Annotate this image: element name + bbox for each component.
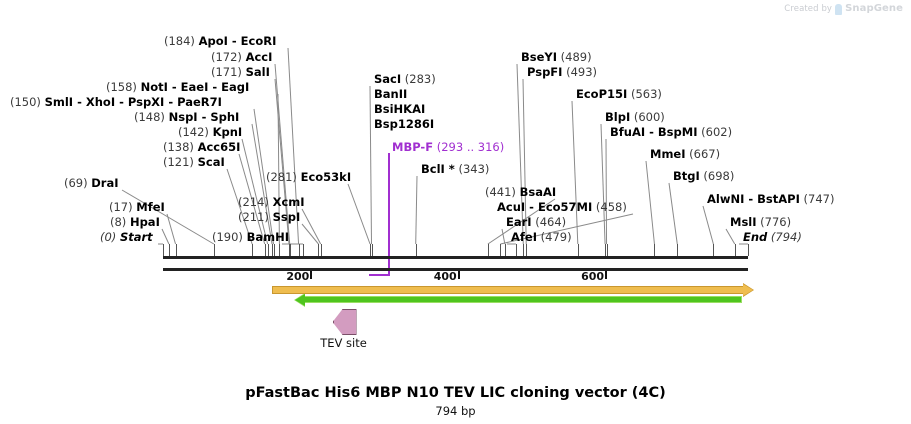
enzyme-position-mbp-f: (293 .. 316) xyxy=(433,140,504,154)
enzyme-label-draI[interactable]: (69) DraI xyxy=(64,177,119,189)
enzyme-position-ecoP15I: (563) xyxy=(627,87,662,101)
enzyme-name-pspFI: PspFI xyxy=(527,65,562,79)
enzyme-label-bsaAI[interactable]: (441) BsaAI xyxy=(485,186,556,198)
map-title: pFastBac His6 MBP N10 TEV LIC cloning ve… xyxy=(0,385,911,401)
enzyme-name-bsp1286I: Bsp1286I xyxy=(374,117,434,131)
enzyme-position-sacI: (283) xyxy=(401,72,436,86)
cut-site-tick-nspI-sphI xyxy=(272,244,273,256)
snapgene-logo-icon xyxy=(835,4,842,15)
cut-site-tick-acuI-eco57MI xyxy=(500,244,501,256)
enzyme-label-bsiHKAI[interactable]: BsiHKAI xyxy=(374,103,425,115)
enzyme-name-acc65I: Acc65I xyxy=(198,140,241,154)
enzyme-name-ecoP15I: EcoP15I xyxy=(576,87,627,101)
enzyme-position-salI: (171) xyxy=(211,65,246,79)
enzyme-position-xcmI: (214) xyxy=(238,195,273,209)
enzyme-position-scaI: (121) xyxy=(163,155,198,169)
enzyme-name-acuI-eco57MI: AcuI - Eco57MI xyxy=(497,200,592,214)
cut-site-tick-start xyxy=(163,244,164,256)
enzyme-name-alwNI-bstAPI: AlwNI - BstAPI xyxy=(707,192,800,206)
enzyme-label-bsp1286I[interactable]: Bsp1286I xyxy=(374,118,434,130)
enzyme-position-kpnI: (142) xyxy=(178,125,213,139)
enzyme-name-btgI: BtgI xyxy=(673,169,700,183)
enzyme-position-apoI-ecoRI: (184) xyxy=(164,34,199,48)
enzyme-name-apoI-ecoRI: ApoI - EcoRI xyxy=(199,34,277,48)
enzyme-label-bclI[interactable]: BclI * (343) xyxy=(421,163,489,175)
enzyme-name-mmeI: MmeI xyxy=(650,147,686,161)
enzyme-label-acuI-eco57MI[interactable]: AcuI - Eco57MI (458) xyxy=(497,201,627,213)
enzyme-label-mbp-f[interactable]: MBP-F (293 .. 316) xyxy=(392,141,504,153)
cut-site-tick-end xyxy=(748,244,749,256)
enzyme-name-xcmI: XcmI xyxy=(273,195,305,209)
cut-site-tick-scaI xyxy=(252,244,253,256)
enzyme-position-bfuAI-bspMI: (602) xyxy=(697,125,732,139)
cut-site-tick-mslI xyxy=(735,244,736,256)
enzyme-label-banII[interactable]: BanII xyxy=(374,88,407,100)
enzyme-name-hpaI: HpaI xyxy=(130,215,160,229)
cut-site-tick-kpnI xyxy=(268,244,269,256)
enzyme-position-acuI-eco57MI: (458) xyxy=(592,200,627,214)
watermark-prefix: Created by xyxy=(784,4,832,14)
enzyme-position-btgI: (698) xyxy=(700,169,735,183)
enzyme-name-start: Start xyxy=(120,230,153,244)
tev-site-arrow[interactable] xyxy=(333,309,357,335)
watermark-brand: SnapGene xyxy=(845,3,903,14)
plasmid-map-canvas: Created by SnapGene (184) ApoI - EcoRI(1… xyxy=(0,0,911,424)
enzyme-position-notI-group: (158) xyxy=(106,80,141,94)
enzyme-label-sspI[interactable]: (211) SspI xyxy=(238,211,300,223)
enzyme-position-end: (794) xyxy=(767,230,802,244)
enzyme-label-btgI[interactable]: BtgI (698) xyxy=(673,170,734,182)
cut-site-tick-pspFI xyxy=(526,244,527,256)
enzyme-position-eco53kI: (281) xyxy=(266,170,301,184)
enzyme-name-bclI: BclI * xyxy=(421,162,455,176)
enzyme-name-mbp-f: MBP-F xyxy=(392,140,433,154)
feature-arrow-mbp-orf[interactable] xyxy=(272,286,745,294)
enzyme-position-mslI: (776) xyxy=(757,215,792,229)
cut-site-tick-bsaAI xyxy=(488,244,489,256)
cut-site-tick-bclI xyxy=(416,244,417,256)
enzyme-label-start[interactable]: (0) Start xyxy=(100,231,153,243)
enzyme-position-accI: (172) xyxy=(211,50,246,64)
cut-site-tick-mmeI xyxy=(654,244,655,256)
cut-site-tick-sspI xyxy=(318,244,319,256)
enzyme-label-kpnI[interactable]: (142) KpnI xyxy=(178,126,242,138)
ruler-tick xyxy=(605,271,607,279)
enzyme-position-mfeI: (17) xyxy=(109,200,136,214)
enzyme-label-end[interactable]: End (794) xyxy=(743,231,802,243)
enzyme-label-bfuAI-bspMI[interactable]: BfuAI - BspMI (602) xyxy=(610,126,732,138)
enzyme-name-sacI: SacI xyxy=(374,72,401,86)
enzyme-label-ecoP15I[interactable]: EcoP15I (563) xyxy=(576,88,662,100)
cut-site-tick-acc65I xyxy=(265,244,266,256)
cut-site-tick-notI-group xyxy=(279,244,280,256)
enzyme-label-bamHI[interactable]: (190) BamHI xyxy=(212,231,289,243)
enzyme-label-smlI-group[interactable]: (150) SmlI - XhoI - PspXI - PaeR7I xyxy=(10,96,222,108)
cut-site-tick-xcmI xyxy=(321,244,322,256)
enzyme-label-bseYI[interactable]: BseYI (489) xyxy=(521,51,592,63)
ruler-tick xyxy=(458,271,460,279)
enzyme-name-afeI: AfeI xyxy=(511,230,537,244)
enzyme-position-bsaAI: (441) xyxy=(485,185,520,199)
enzyme-label-xcmI[interactable]: (214) XcmI xyxy=(238,196,305,208)
cut-site-tick-smlI-group xyxy=(274,244,275,256)
cut-site-tick-draI xyxy=(214,244,215,256)
enzyme-position-earI: (464) xyxy=(532,215,567,229)
ruler-label-400: 400 xyxy=(434,270,457,283)
enzyme-name-kpnI: KpnI xyxy=(213,125,243,139)
enzyme-name-eco53kI: Eco53kI xyxy=(301,170,352,184)
cut-site-tick-alwNI-bstAPI xyxy=(713,244,714,256)
enzyme-position-nspI-sphI: (148) xyxy=(134,110,169,124)
enzyme-name-bseYI: BseYI xyxy=(521,50,557,64)
snapgene-watermark: Created by SnapGene xyxy=(784,3,903,14)
enzyme-label-sacI[interactable]: SacI (283) xyxy=(374,73,436,85)
enzyme-name-mslI: MslI xyxy=(730,215,757,229)
enzyme-label-acc65I[interactable]: (138) Acc65I xyxy=(163,141,240,153)
cut-site-tick-hpaI xyxy=(169,244,170,256)
enzyme-position-alwNI-bstAPI: (747) xyxy=(800,192,835,206)
ruler-label-200: 200 xyxy=(286,270,309,283)
enzyme-label-mslI[interactable]: MslI (776) xyxy=(730,216,791,228)
enzyme-name-smlI-group: SmlI - XhoI - PspXI - PaeR7I xyxy=(45,95,222,109)
cut-site-tick-ecoP15I xyxy=(578,244,579,256)
enzyme-position-mmeI: (667) xyxy=(686,147,721,161)
enzyme-label-blpI[interactable]: BlpI (600) xyxy=(605,111,665,123)
tev-site-label: TEV site xyxy=(320,336,367,350)
enzyme-position-draI: (69) xyxy=(64,176,91,190)
enzyme-label-pspFI[interactable]: PspFI (493) xyxy=(527,66,597,78)
enzyme-name-nspI-sphI: NspI - SphI xyxy=(169,110,240,124)
enzyme-name-end: End xyxy=(743,230,767,244)
enzyme-label-afeI[interactable]: AfeI (479) xyxy=(511,231,572,243)
cut-site-tick-mfeI xyxy=(176,244,177,256)
enzyme-label-eco53kI[interactable]: (281) Eco53kI xyxy=(266,171,351,183)
cut-site-tick-btgI xyxy=(677,244,678,256)
cut-site-tick-bseYI xyxy=(523,244,524,256)
enzyme-name-draI: DraI xyxy=(91,176,118,190)
enzyme-name-bamHI: BamHI xyxy=(247,230,289,244)
enzyme-position-sspI: (211) xyxy=(238,210,273,224)
cut-site-tick-bamHI xyxy=(303,244,304,256)
enzyme-name-salI: SalI xyxy=(246,65,270,79)
enzyme-name-bsiHKAI: BsiHKAI xyxy=(374,102,425,116)
cut-site-tick-afeI xyxy=(516,244,517,256)
enzyme-position-bamHI: (190) xyxy=(212,230,247,244)
enzyme-position-pspFI: (493) xyxy=(562,65,597,79)
enzyme-name-notI-group: NotI - EaeI - EagI xyxy=(141,80,250,94)
cut-site-tick-salI xyxy=(289,244,290,256)
enzyme-position-hpaI: (8) xyxy=(110,215,130,229)
cut-site-tick-bfuAI-bspMI xyxy=(607,244,608,256)
enzyme-name-earI: EarI xyxy=(506,215,532,229)
enzyme-label-notI-group[interactable]: (158) NotI - EaeI - EagI xyxy=(106,81,249,93)
enzyme-label-nspI-sphI[interactable]: (148) NspI - SphI xyxy=(134,111,239,123)
enzyme-position-blpI: (600) xyxy=(630,110,665,124)
enzyme-label-apoI-ecoRI[interactable]: (184) ApoI - EcoRI xyxy=(164,35,276,47)
enzyme-position-bclI: (343) xyxy=(455,162,490,176)
enzyme-name-sspI: SspI xyxy=(273,210,301,224)
enzyme-name-blpI: BlpI xyxy=(605,110,630,124)
backbone-top-strand xyxy=(163,256,748,259)
enzyme-position-smlI-group: (150) xyxy=(10,95,45,109)
enzyme-name-bfuAI-bspMI: BfuAI - BspMI xyxy=(610,125,697,139)
enzyme-name-mfeI: MfeI xyxy=(136,200,165,214)
enzyme-label-earI[interactable]: EarI (464) xyxy=(506,216,566,228)
enzyme-position-bseYI: (489) xyxy=(557,50,592,64)
enzyme-name-bsaAI: BsaAI xyxy=(520,185,557,199)
enzyme-label-hpaI[interactable]: (8) HpaI xyxy=(110,216,160,228)
ruler-label-600: 600 xyxy=(581,270,604,283)
enzyme-name-scaI: ScaI xyxy=(198,155,225,169)
enzyme-label-accI[interactable]: (172) AccI xyxy=(211,51,272,63)
enzyme-position-afeI: (479) xyxy=(537,230,572,244)
cut-site-tick-apoI-ecoRI xyxy=(299,244,300,256)
enzyme-label-scaI[interactable]: (121) ScaI xyxy=(163,156,225,168)
feature-arrow-lic-region[interactable] xyxy=(303,296,742,303)
cut-site-tick-earI xyxy=(505,244,506,256)
map-subtitle: 794 bp xyxy=(0,404,911,418)
enzyme-position-acc65I: (138) xyxy=(163,140,198,154)
primer-binding-site-mbp-f[interactable] xyxy=(369,274,389,276)
enzyme-name-banII: BanII xyxy=(374,87,407,101)
enzyme-label-alwNI-bstAPI[interactable]: AlwNI - BstAPI (747) xyxy=(707,193,834,205)
enzyme-label-salI[interactable]: (171) SalI xyxy=(211,66,270,78)
enzyme-label-mfeI[interactable]: (17) MfeI xyxy=(109,201,165,213)
enzyme-label-mmeI[interactable]: MmeI (667) xyxy=(650,148,720,160)
cut-site-tick-sacI xyxy=(372,244,373,256)
enzyme-name-accI: AccI xyxy=(246,50,273,64)
ruler-tick xyxy=(310,271,312,279)
enzyme-position-start: (0) xyxy=(100,230,120,244)
